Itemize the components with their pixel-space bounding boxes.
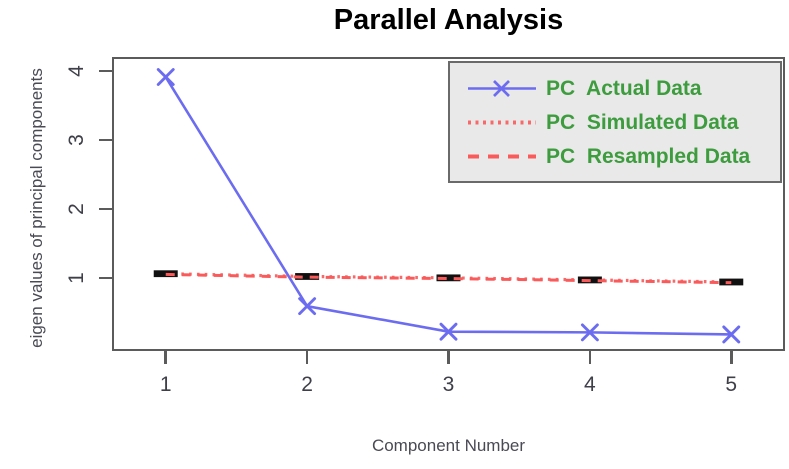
x-axis-tick bbox=[589, 351, 592, 364]
legend-label: PC Simulated Data bbox=[546, 106, 739, 139]
y-axis-tick bbox=[99, 208, 112, 211]
legend-item: PC Actual Data bbox=[450, 72, 780, 105]
x-axis-tick-label: 1 bbox=[146, 372, 186, 398]
parallel-analysis-figure: Parallel Analysis eigen values of princi… bbox=[0, 0, 789, 469]
dashed-line-key bbox=[466, 140, 538, 173]
x-axis-tick bbox=[730, 351, 733, 364]
x-axis-tick bbox=[164, 351, 167, 364]
legend-key-dashed-line-key bbox=[466, 140, 538, 173]
y-axis-tick bbox=[99, 70, 112, 73]
legend-item: PC Resampled Data bbox=[450, 140, 780, 173]
legend-label: PC Actual Data bbox=[546, 72, 702, 105]
y-axis-tick-label: 1 bbox=[62, 263, 92, 293]
solid-line-x-marker-key bbox=[466, 72, 538, 105]
x-axis-tick-label: 5 bbox=[711, 372, 751, 398]
y-axis-tick bbox=[99, 139, 112, 142]
data-point-marker-x bbox=[158, 70, 173, 85]
x-axis-tick bbox=[447, 351, 450, 364]
legend-label: PC Resampled Data bbox=[546, 140, 750, 173]
x-axis-tick bbox=[306, 351, 309, 364]
legend-key-dotted-line-key bbox=[466, 106, 538, 139]
y-axis-tick-label: 4 bbox=[62, 56, 92, 86]
y-axis-tick-label: 3 bbox=[62, 125, 92, 155]
series-1 bbox=[154, 270, 744, 285]
legend-key-solid-line-x-marker-key bbox=[466, 72, 538, 105]
page-title: Parallel Analysis bbox=[112, 2, 785, 38]
x-axis-tick-label: 4 bbox=[570, 372, 610, 398]
dotted-line-key bbox=[466, 106, 538, 139]
x-axis-title: Component Number bbox=[112, 436, 785, 456]
y-axis-tick-label: 2 bbox=[62, 194, 92, 224]
legend-item: PC Simulated Data bbox=[450, 106, 780, 139]
y-axis-tick bbox=[99, 277, 112, 280]
y-axis-title: eigen values of principal components bbox=[27, 3, 47, 413]
x-axis-tick-label: 3 bbox=[429, 372, 469, 398]
x-axis-tick-label: 2 bbox=[287, 372, 327, 398]
legend: PC Actual Data PC Simulated Data PC Resa… bbox=[448, 61, 782, 183]
